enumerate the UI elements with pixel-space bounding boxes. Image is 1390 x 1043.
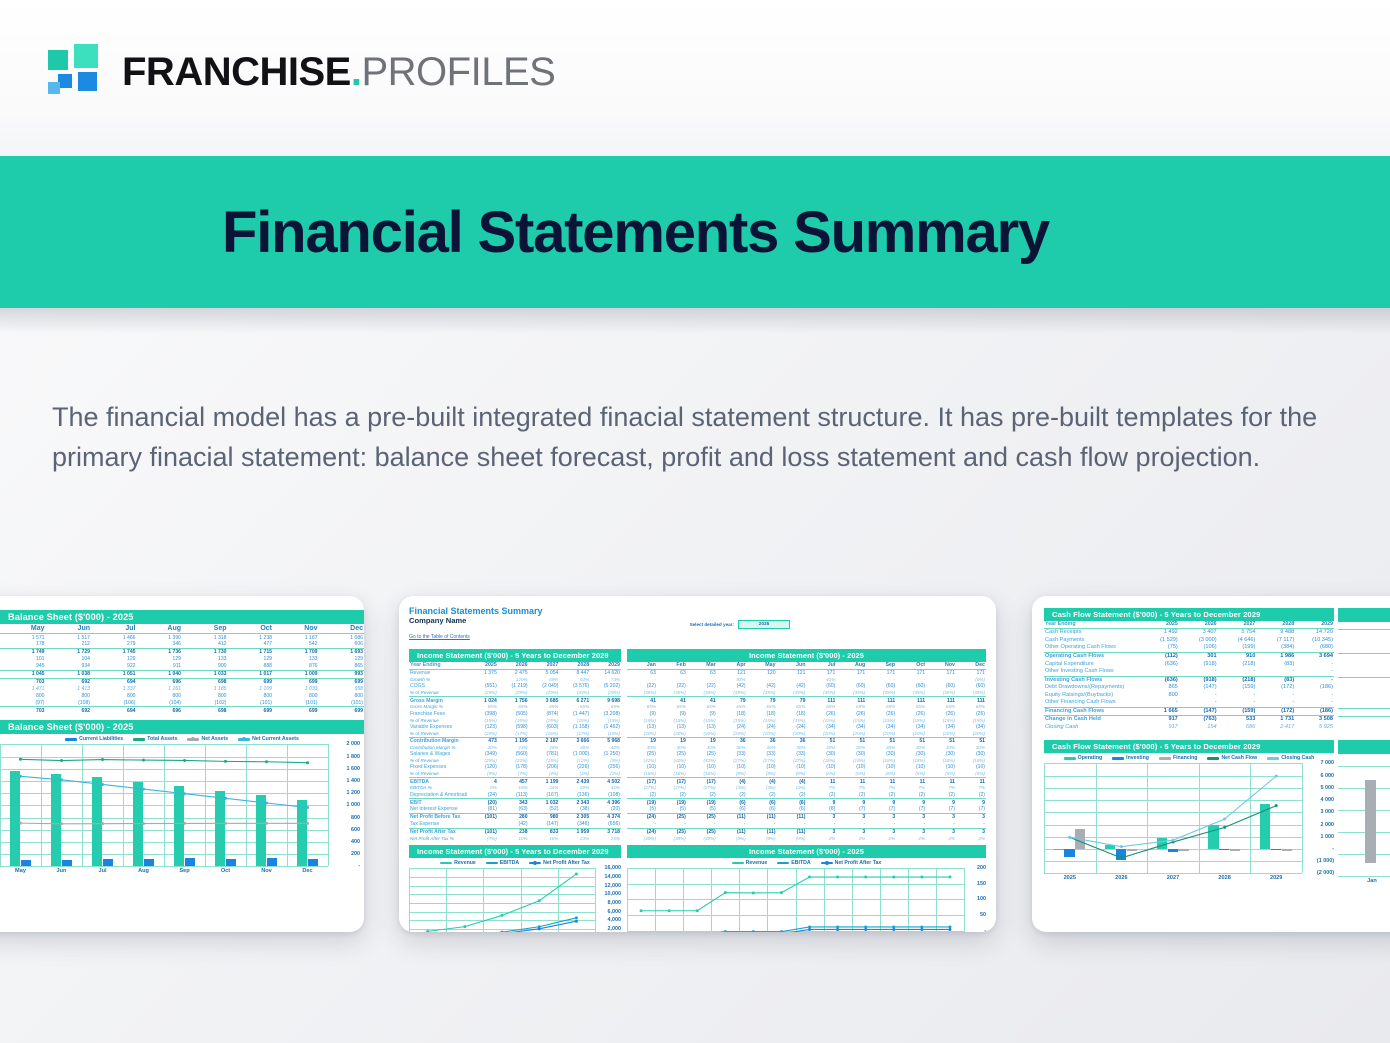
- left-sheet-title: Balance Sheet ($'000) - 2025: [0, 610, 364, 624]
- logo-square-blue-mid: [58, 74, 72, 88]
- table-cell: -: [1179, 699, 1218, 707]
- table-cell: 542: [273, 641, 319, 648]
- row-label: EBITDA: [409, 778, 467, 785]
- income-annual-chart: 16,00014,00012,00010,0008,0006,0004,0002…: [409, 868, 621, 932]
- row-label: Year Ending: [1044, 621, 1140, 629]
- table-cell: 800: [182, 693, 228, 700]
- table-cell: (159): [1218, 707, 1257, 716]
- table-cell: (781): [529, 751, 560, 758]
- table-cell: 2029: [590, 662, 621, 670]
- table-cell: 1 261: [137, 686, 183, 693]
- table-cell: 910: [1218, 652, 1257, 660]
- y-axis-tick: -: [1332, 846, 1334, 852]
- chart-bar: [1365, 780, 1376, 864]
- brand-logo: FRANCHISE.PROFILES: [48, 44, 555, 100]
- table-cell: 800: [1338, 693, 1390, 701]
- table-cell: 5 925: [1295, 724, 1334, 732]
- table-cell: 36: [747, 737, 777, 744]
- table-cell: (384): [1256, 644, 1295, 652]
- y-axis-tick: 1 600: [347, 766, 361, 772]
- x-axis-tick: Sep: [179, 868, 189, 874]
- legend-label: Net Profit After Tax: [835, 860, 882, 866]
- table-row: (13)(13)(13)(24)(24)(24)(34)(34)(34)(34)…: [627, 724, 986, 731]
- legend-swatch: [486, 862, 498, 864]
- table-cell: -: [687, 821, 717, 828]
- x-axis-tick: Jul: [98, 868, 106, 874]
- table-cell: (2%): [590, 771, 621, 778]
- legend-item: Total Assets: [133, 736, 177, 742]
- table-cell: (349): [467, 751, 498, 758]
- table-cell: (8%): [717, 771, 747, 778]
- legend-item: EBITDA: [486, 860, 519, 866]
- table-cell: -: [717, 821, 747, 828]
- table-cell: (1 158): [559, 724, 590, 731]
- table-cell: (16%): [627, 771, 657, 778]
- legend-label: EBITDA: [791, 860, 810, 866]
- table-cell: 51: [926, 737, 956, 744]
- table-row: Variable Expenses(123)(598)(603)(1 158)(…: [409, 724, 621, 731]
- table-cell: (22): [627, 683, 657, 690]
- table-cell: 32: [1338, 630, 1390, 638]
- brand-name-bold: FRANCHISE: [122, 50, 351, 94]
- y-axis-tick: 2 000: [1321, 822, 1335, 828]
- table-cell: 1 571: [0, 634, 46, 641]
- brand-name-light: PROFILES: [361, 50, 555, 94]
- table-cell: 3: [836, 814, 866, 821]
- table-cell: (13): [687, 724, 717, 731]
- table-cell: (19): [627, 799, 657, 806]
- table-cell: (25): [657, 751, 687, 758]
- table-cell: (2): [717, 792, 747, 799]
- table-cell: (2): [836, 792, 866, 799]
- table-cell: -: [926, 821, 956, 828]
- table-cell: 129: [228, 656, 274, 663]
- legend-swatch: [1159, 757, 1171, 759]
- legend-label: Current Liabilities: [79, 736, 123, 742]
- table-cell: 1 045: [0, 670, 46, 678]
- table-cell: (147): [529, 821, 560, 828]
- table-cell: 3: [836, 829, 866, 836]
- header-bar: FRANCHISE.PROFILES: [0, 0, 1390, 156]
- row-label: Contribution Margin: [409, 737, 467, 744]
- table-cell: -: [1140, 668, 1179, 676]
- x-axis-tick: Jan: [1367, 878, 1377, 884]
- table-cell: -: [1256, 692, 1295, 700]
- table-row: Net Interest Expense(81)(63)(52)(38)(20): [409, 806, 621, 813]
- table-cell: 9: [836, 799, 866, 806]
- table-row: 191919363636515151515151: [627, 737, 986, 744]
- table-cell: (2): [866, 792, 896, 799]
- table-cell: Apr: [717, 662, 747, 670]
- legend-swatch: [238, 738, 250, 740]
- table-cell: 606: [319, 641, 365, 648]
- table-cell: (3 208): [590, 711, 621, 718]
- panel-balance-sheet[interactable]: Balance Sheet ($'000) - 2025 MayJunJulAu…: [0, 596, 364, 932]
- table-cell: (35%): [657, 690, 687, 697]
- table-cell: (7): [956, 806, 986, 813]
- table-cell: (4%): [529, 771, 560, 778]
- table-cell: -: [1295, 660, 1334, 668]
- table-cell: (29%): [467, 690, 498, 697]
- table-row: Capital Expenditure(636)(918)(218)(83)-: [1044, 660, 1334, 668]
- y-axis-tick: 1 800: [347, 754, 361, 760]
- table-cell: 4 396: [590, 799, 621, 806]
- table-cell: (17): [627, 778, 657, 785]
- table-cell: (26): [806, 711, 836, 718]
- table-cell: (97): [0, 700, 46, 707]
- table-cell: (6%): [806, 771, 836, 778]
- table-row: 32: [1338, 630, 1390, 638]
- y-axis-tick: 2,000: [608, 926, 622, 932]
- table-cell: 23%: [559, 836, 590, 842]
- table-cell: 699: [228, 678, 274, 685]
- table-cell: (6): [747, 799, 777, 806]
- table-cell: 4: [467, 778, 498, 785]
- x-axis-tick: 2029: [1270, 875, 1282, 881]
- table-cell: 696: [137, 678, 183, 685]
- table-row: Other Investing Cash Flows-----: [1044, 668, 1334, 676]
- grid-line: [1338, 766, 1390, 767]
- legend-item: Net Assets: [187, 736, 228, 742]
- table-cell: 1 167: [273, 634, 319, 641]
- table-cell: 41: [657, 697, 687, 704]
- table-cell: (39%): [627, 836, 657, 842]
- y-axis-tick: 1 400: [347, 778, 361, 784]
- table-row: 101104129129133129133129: [0, 656, 364, 663]
- table-cell: 1 745: [91, 649, 137, 656]
- table-cell: 412: [182, 641, 228, 648]
- table-cell: 917: [1140, 716, 1179, 724]
- grid-line: [1338, 854, 1390, 855]
- table-header-row: MayJunJulAugSepOctNovDec: [0, 624, 364, 634]
- panel-income-statement[interactable]: Financial Statements Summary Company Nam…: [399, 596, 996, 932]
- y-axis-tick: 12,000: [605, 883, 622, 889]
- table-cell: (20%): [467, 731, 498, 738]
- table-row: (9)(9)(9)(18)(18)(18)(26)(26)(26)(26)(26…: [627, 711, 986, 718]
- page-title: Financial Statements Summary: [222, 199, 1049, 266]
- table-cell: 8 447: [559, 670, 590, 677]
- table-cell: (159): [1218, 684, 1257, 692]
- table-cell: (60): [956, 683, 986, 690]
- table-row: Other Operating Cash Flows(75)(106)(199)…: [1044, 644, 1334, 652]
- row-label: Cash Payments: [1044, 637, 1140, 645]
- table-row: 414141797979111111111111111111: [627, 697, 986, 704]
- row-label: Tax Expense: [409, 821, 467, 828]
- table-cell: 9: [806, 799, 836, 806]
- table-cell: (147): [1179, 684, 1218, 692]
- table-cell: (636): [1140, 676, 1179, 684]
- table-cell: (7%): [498, 771, 529, 778]
- x-axis-tick: 2027: [1167, 875, 1179, 881]
- table-cell: [467, 821, 498, 828]
- table-row: Net Profit After Tax(101)2388331 9593 71…: [409, 829, 621, 836]
- table-cell: (763): [1179, 716, 1218, 724]
- cash-flow-side-chart: Jan: [1338, 766, 1390, 876]
- table-cell: 800: [228, 693, 274, 700]
- table-cell: (39%): [657, 836, 687, 842]
- table-cell: 3: [896, 829, 926, 836]
- table-cell: 5 968: [590, 737, 621, 744]
- table-cell: (42): [498, 821, 529, 828]
- chart-lines: [1044, 763, 1302, 873]
- table-cell: 3: [866, 829, 896, 836]
- table-cell: (30): [956, 751, 986, 758]
- legend-swatch: [732, 862, 744, 864]
- y-axis-tick: 4 000: [1321, 797, 1335, 803]
- table-row: Franchise Fees(398)(505)(874)(1 447)(3 2…: [409, 711, 621, 718]
- table-row: Equity Raisings/(Buybacks)800----: [1044, 692, 1334, 700]
- table-cell: (206): [529, 764, 560, 771]
- legend-label: Closing Cash: [1281, 755, 1314, 761]
- table-cell: 1 318: [182, 634, 228, 641]
- legend-swatch: [1064, 757, 1076, 759]
- table-row: 1 789: [1338, 708, 1390, 717]
- table-row: 945934922911900888876865: [0, 663, 364, 670]
- table-cell: (226): [559, 764, 590, 771]
- row-label: Other Financing Cash Flows: [1044, 699, 1140, 707]
- table-cell: 19: [657, 737, 687, 744]
- table-cell: (60): [806, 683, 836, 690]
- row-label: Net Interest Expense: [409, 806, 467, 813]
- table-row: 703692694696698699699699: [0, 678, 364, 685]
- mid-subheading: Company Name: [409, 616, 543, 625]
- table-cell: (29%): [590, 690, 621, 697]
- table-cell: (42): [717, 683, 747, 690]
- table-cell: (24): [627, 814, 657, 821]
- table-row: 800800800800800800800800: [0, 693, 364, 700]
- table-row: (36): [1338, 677, 1390, 685]
- table-cell: 111: [926, 697, 956, 704]
- table-cell: (11): [777, 814, 807, 821]
- table-cell: 699: [228, 707, 274, 714]
- table-cell: (101): [467, 814, 498, 821]
- table-cell: 9: [926, 799, 956, 806]
- table-cell: (3 000): [1179, 637, 1218, 645]
- table-cell: 2 305: [559, 814, 590, 821]
- table-cell: (20%): [627, 731, 657, 738]
- table-cell: 2 343: [559, 799, 590, 806]
- table-row: 1 731: [1338, 725, 1390, 733]
- table-cell: (35%): [777, 690, 807, 697]
- legend-item: Net Profit After Tax: [529, 860, 590, 866]
- table-cell: (7): [836, 806, 866, 813]
- table-cell: 111: [836, 697, 866, 704]
- table-cell: (6): [717, 806, 747, 813]
- table-cell: 800: [91, 693, 137, 700]
- legend-item: Net Cash Flow: [1207, 755, 1257, 761]
- column-header: Nov: [273, 624, 319, 634]
- table-cell: -: [866, 821, 896, 828]
- table-cell: (35%): [747, 690, 777, 697]
- x-axis-tick: Jun: [57, 868, 67, 874]
- table-cell: 2%: [956, 836, 986, 842]
- table-cell: (603): [529, 724, 560, 731]
- mid-heading: Financial Statements Summary: [409, 606, 543, 616]
- table-cell: 111: [806, 697, 836, 704]
- table-row: 1 0451 0381 0511 0401 0331 0171 009993: [0, 670, 364, 678]
- table-cell: 3 666: [559, 737, 590, 744]
- table-row: (39%)(39%)(39%)(9%)(9%)(9%)2%2%2%2%2%2%: [627, 836, 986, 842]
- grid-line: [1338, 788, 1390, 789]
- table-cell: 1 032: [529, 799, 560, 806]
- table-cell: 1 729: [46, 649, 92, 656]
- logo-square-blue-right: [78, 72, 97, 91]
- table-cell: 2027: [1218, 621, 1257, 629]
- table-cell: -: [1295, 676, 1334, 684]
- table-cell: (36): [1338, 661, 1390, 669]
- table-cell: 1 471: [0, 686, 46, 693]
- table-cell: 63: [657, 670, 687, 677]
- table-cell: 457: [498, 778, 529, 785]
- x-axis-tick: Aug: [138, 868, 149, 874]
- table-row: Year Ending20252026202720282029: [409, 662, 621, 670]
- legend-label: Investing: [1126, 755, 1149, 761]
- table-cell: 694: [91, 678, 137, 685]
- table-cell: (20): [590, 806, 621, 813]
- table-cell: (19%): [590, 731, 621, 738]
- table-cell: 1 185: [182, 686, 228, 693]
- slide-root: FRANCHISE.PROFILES Financial Statements …: [0, 0, 1390, 1043]
- table-cell: Nov: [926, 662, 956, 670]
- table-cell: 692: [46, 707, 92, 714]
- table-cell: 129: [137, 656, 183, 663]
- row-label: EBIT: [409, 799, 467, 806]
- x-axis-tick: 2025: [1064, 875, 1076, 881]
- y-axis-tick: 5 000: [1321, 785, 1335, 791]
- table-cell: (11): [777, 829, 807, 836]
- table-cell: 1 959: [559, 829, 590, 836]
- table-cell: 698: [182, 678, 228, 685]
- table-cell: (20%): [777, 731, 807, 738]
- logo-square-teal-left: [48, 50, 68, 70]
- legend-label: Net Current Assets: [252, 736, 299, 742]
- table-cell: 10%: [498, 836, 529, 842]
- column-header: Oct: [228, 624, 274, 634]
- table-cell: (34): [956, 724, 986, 731]
- table-row: (25)(25)(25)(33)(33)(33)(30)(30)(30)(30)…: [627, 751, 986, 758]
- table-cell: 800: [0, 693, 46, 700]
- table-cell: 876: [273, 663, 319, 670]
- table-cell: (123): [467, 724, 498, 731]
- table-cell: 111: [866, 697, 896, 704]
- table-cell: (5): [657, 806, 687, 813]
- table-cell: 800: [273, 693, 319, 700]
- table-cell: 9 698: [590, 697, 621, 704]
- table-cell: 41: [687, 697, 717, 704]
- table-cell: 865: [1140, 684, 1179, 692]
- table-cell: (9%): [717, 836, 747, 842]
- table-cell: (17%): [559, 731, 590, 738]
- table-cell: (918): [1179, 660, 1218, 668]
- table-cell: (16%): [687, 771, 717, 778]
- row-label: Net Profit Before Tax: [409, 814, 467, 821]
- table-cell: Jun: [777, 662, 807, 670]
- table-cell: (6): [777, 799, 807, 806]
- row-label: Closing Cash: [1044, 724, 1140, 732]
- table-row: % of Revenue(9%)(7%)(4%)(3%)(2%): [409, 771, 621, 778]
- table-cell: 171: [866, 670, 896, 677]
- table-cell: (13): [657, 724, 687, 731]
- table-cell: (2): [777, 792, 807, 799]
- table-cell: (24): [717, 724, 747, 731]
- table-row: (24)(25)(25)(11)(11)(11)333333: [627, 829, 986, 836]
- table-cell: 36: [777, 737, 807, 744]
- table-cell: (35%): [627, 690, 657, 697]
- table-cell: -: [956, 821, 986, 828]
- table-cell: (218): [1218, 676, 1257, 684]
- table-row: (22): [1338, 653, 1390, 661]
- table-row: Other Financing Cash Flows-----: [1044, 699, 1334, 707]
- table-cell: (60): [896, 683, 926, 690]
- row-label: Revenue: [409, 670, 467, 677]
- table-cell: 533: [1218, 716, 1257, 724]
- table-cell: (172): [1256, 707, 1295, 716]
- table-cell: (10): [866, 764, 896, 771]
- table-cell: (29%): [498, 690, 529, 697]
- table-cell: 945: [0, 663, 46, 670]
- table-cell: (10): [836, 764, 866, 771]
- table-cell: -: [1256, 699, 1295, 707]
- column-header: Dec: [319, 624, 365, 634]
- year-selector[interactable]: Select detailed year: 2025: [690, 620, 790, 629]
- table-of-contents-link[interactable]: Go to the Table of Contents: [409, 634, 470, 640]
- table-cell: (10): [926, 764, 956, 771]
- table-cell: (16%): [529, 731, 560, 738]
- table-cell: 171: [926, 670, 956, 677]
- year-selector-value[interactable]: 2025: [738, 620, 790, 629]
- legend-label: Financing: [1173, 755, 1198, 761]
- table-cell: (147): [1179, 707, 1218, 716]
- table-cell: 1 492: [1140, 629, 1179, 637]
- table-cell: 51: [806, 737, 836, 744]
- table-row: Gross Margin1 0241 7563 6856 2719 698: [409, 697, 621, 704]
- panel-cash-flow[interactable]: Cash Flow Statement ($'000) - 5 Years to…: [1032, 596, 1390, 932]
- table-cell: (551): [467, 683, 498, 690]
- table-cell: (8%): [777, 771, 807, 778]
- table-cell: (35%): [836, 690, 866, 697]
- y-axis-tick: 1 000: [1321, 834, 1335, 840]
- logo-squares-icon: [48, 44, 104, 100]
- row-label: Investing Cash Flows: [1044, 676, 1140, 684]
- table-cell: 2 417: [1256, 724, 1295, 732]
- table-row: 1 7491 7291 7451 7361 7301 7151 7091 693: [0, 649, 364, 656]
- table-row: JanFebMarAprMayJunJulAugSepOctNovDec: [627, 662, 986, 670]
- table-cell: 1 736: [137, 649, 183, 656]
- table-cell: (680): [1295, 644, 1334, 652]
- column-header: Jun: [46, 624, 92, 634]
- table-cell: (34): [896, 724, 926, 731]
- legend-label: Operating: [1078, 755, 1103, 761]
- table-cell: 2 475: [498, 670, 529, 677]
- table-cell: 63: [627, 670, 657, 677]
- table-cell: -: [806, 821, 836, 828]
- table-cell: 2026: [1179, 621, 1218, 629]
- table-cell: 800: [319, 693, 365, 700]
- table-cell: 692: [46, 678, 92, 685]
- table-cell: (20): [467, 799, 498, 806]
- table-cell: -: [1140, 699, 1179, 707]
- table-cell: (9): [627, 711, 657, 718]
- mid-annual-title: Income Statement ($'000) - 5 Years to De…: [409, 649, 621, 662]
- table-cell: 1 986: [1256, 652, 1295, 660]
- legend-item: Net Current Assets: [238, 736, 299, 742]
- table-cell: (108): [46, 700, 92, 707]
- table-cell: (2): [657, 792, 687, 799]
- table-cell: 917: [1140, 724, 1179, 732]
- x-axis-tick: May: [15, 868, 26, 874]
- table-cell: (22): [687, 683, 717, 690]
- table-cell: (3%): [559, 771, 590, 778]
